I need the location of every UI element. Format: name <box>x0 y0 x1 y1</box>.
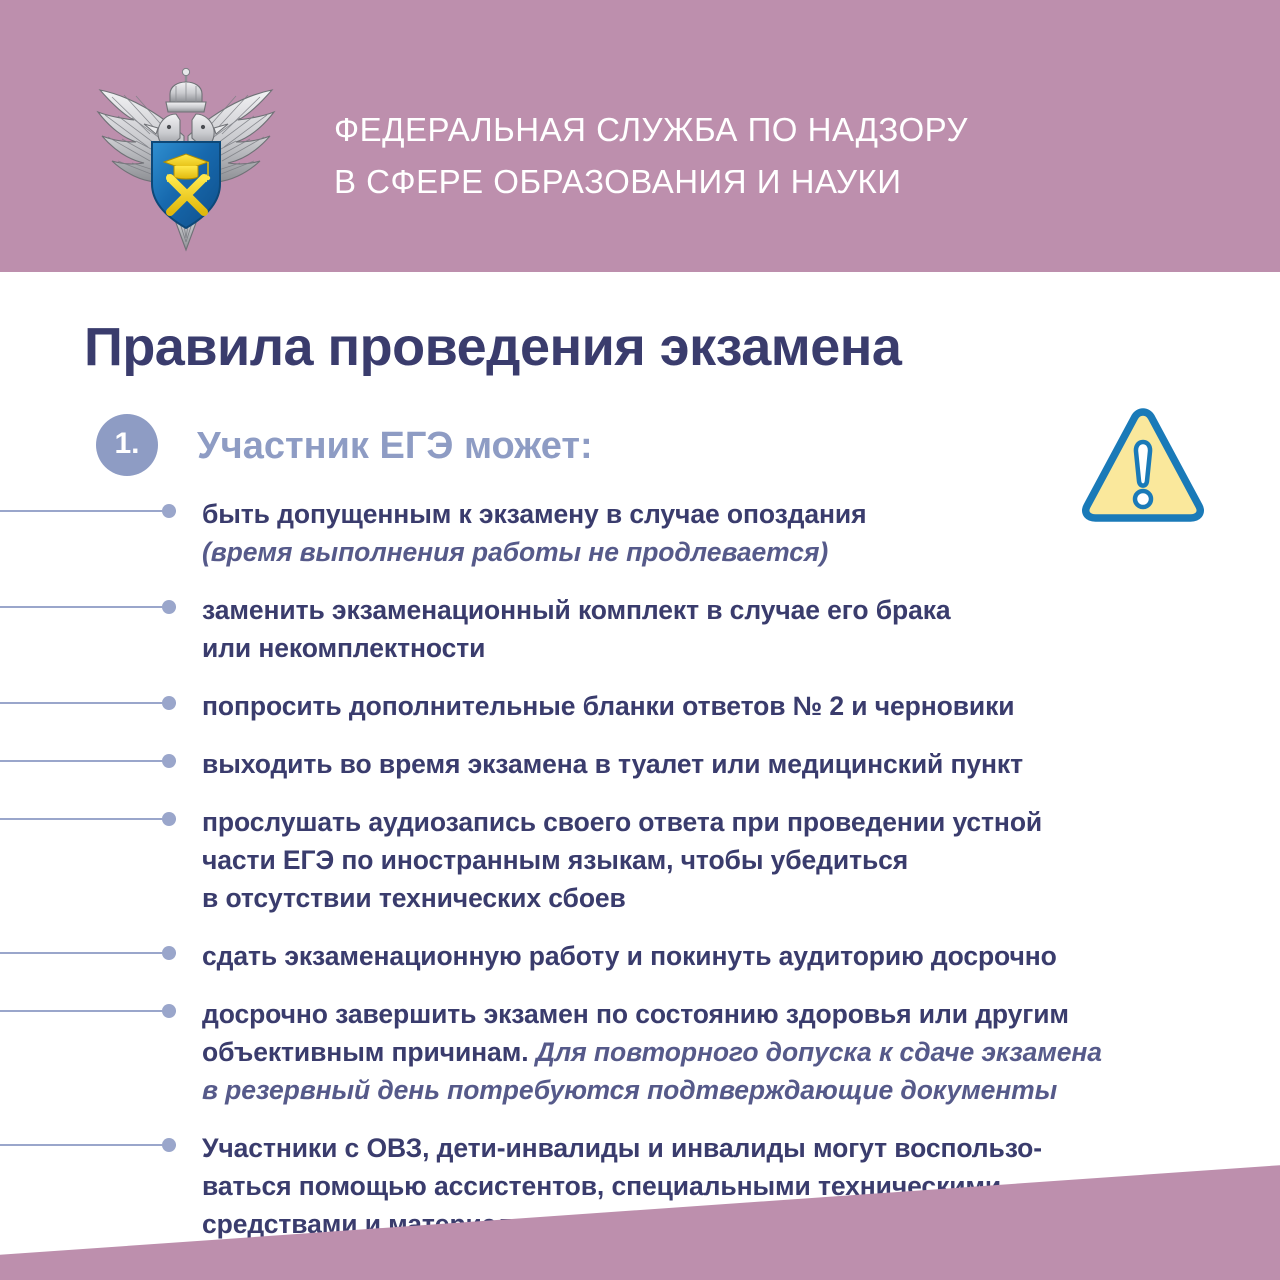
rule-text: досрочно завершить экзамен по состоянию … <box>202 995 1182 1109</box>
rule-item: сдать экзаменационную работу и покинуть … <box>0 937 1280 975</box>
rule-text-line: выходить во время экзамена в туалет или … <box>202 745 1182 783</box>
rule-text: прослушать аудиозапись своего ответа при… <box>202 803 1182 917</box>
rule-text-line: (время выполнения работы не продлевается… <box>202 533 1182 571</box>
rule-text-line: досрочно завершить экзамен по состоянию … <box>202 995 1182 1033</box>
rule-text: попросить дополнительные бланки ответов … <box>202 687 1182 725</box>
bullet-dot-icon <box>0 510 176 512</box>
rule-text-line: быть допущенным к экзамену в случае опоз… <box>202 495 1182 533</box>
rule-item: выходить во время экзамена в туалет или … <box>0 745 1280 783</box>
bullet-dot-icon <box>0 952 176 954</box>
section-heading: Участник ЕГЭ может: <box>197 425 593 468</box>
rule-item: заменить экзаменационный комплект в случ… <box>0 591 1280 667</box>
rule-text-line: в отсутствии технических сбоев <box>202 879 1182 917</box>
rule-text-line: объективным причинам. Для повторного доп… <box>202 1033 1182 1071</box>
rule-text-line: попросить дополнительные бланки ответов … <box>202 687 1182 725</box>
rule-text-line: или некомплектности <box>202 629 1182 667</box>
page-header: ФЕДЕРАЛЬНАЯ СЛУЖБА ПО НАДЗОРУ В СФЕРЕ ОБ… <box>0 0 1280 272</box>
rule-text: сдать экзаменационную работу и покинуть … <box>202 937 1182 975</box>
rule-item: досрочно завершить экзамен по состоянию … <box>0 995 1280 1109</box>
rules-list: быть допущенным к экзамену в случае опоз… <box>0 495 1280 1263</box>
rule-item: прослушать аудиозапись своего ответа при… <box>0 803 1280 917</box>
page-title: Правила проведения экзамена <box>84 316 901 378</box>
bullet-dot-icon <box>0 818 176 820</box>
rule-text: быть допущенным к экзамену в случае опоз… <box>202 495 1182 571</box>
rule-item: попросить дополнительные бланки ответов … <box>0 687 1280 725</box>
rule-text-line: прослушать аудиозапись своего ответа при… <box>202 803 1182 841</box>
rule-text-line: части ЕГЭ по иностранным языкам, чтобы у… <box>202 841 1182 879</box>
bullet-dot-icon <box>0 1010 176 1012</box>
infographic-page: ФЕДЕРАЛЬНАЯ СЛУЖБА ПО НАДЗОРУ В СФЕРЕ ОБ… <box>0 0 1280 1280</box>
agency-name: ФЕДЕРАЛЬНАЯ СЛУЖБА ПО НАДЗОРУ В СФЕРЕ ОБ… <box>334 104 1094 208</box>
bullet-dot-icon <box>0 702 176 704</box>
bullet-dot-icon <box>0 760 176 762</box>
rule-text-line: заменить экзаменационный комплект в случ… <box>202 591 1182 629</box>
rosobrnadzor-emblem-icon <box>72 62 300 252</box>
rule-text-line: сдать экзаменационную работу и покинуть … <box>202 937 1182 975</box>
agency-name-line-1: ФЕДЕРАЛЬНАЯ СЛУЖБА ПО НАДЗОРУ <box>334 104 1094 156</box>
rule-text: заменить экзаменационный комплект в случ… <box>202 591 1182 667</box>
bullet-dot-icon <box>0 606 176 608</box>
rule-text-line: в резервный день потребуются подтверждаю… <box>202 1071 1182 1109</box>
rule-text: выходить во время экзамена в туалет или … <box>202 745 1182 783</box>
rule-text-line: Участники с ОВЗ, дети-инвалиды и инвалид… <box>202 1129 1182 1167</box>
section-number-badge: 1. <box>96 414 158 476</box>
agency-name-line-2: В СФЕРЕ ОБРАЗОВАНИЯ И НАУКИ <box>334 156 1094 208</box>
rule-item: быть допущенным к экзамену в случае опоз… <box>0 495 1280 571</box>
bullet-dot-icon <box>0 1144 176 1146</box>
